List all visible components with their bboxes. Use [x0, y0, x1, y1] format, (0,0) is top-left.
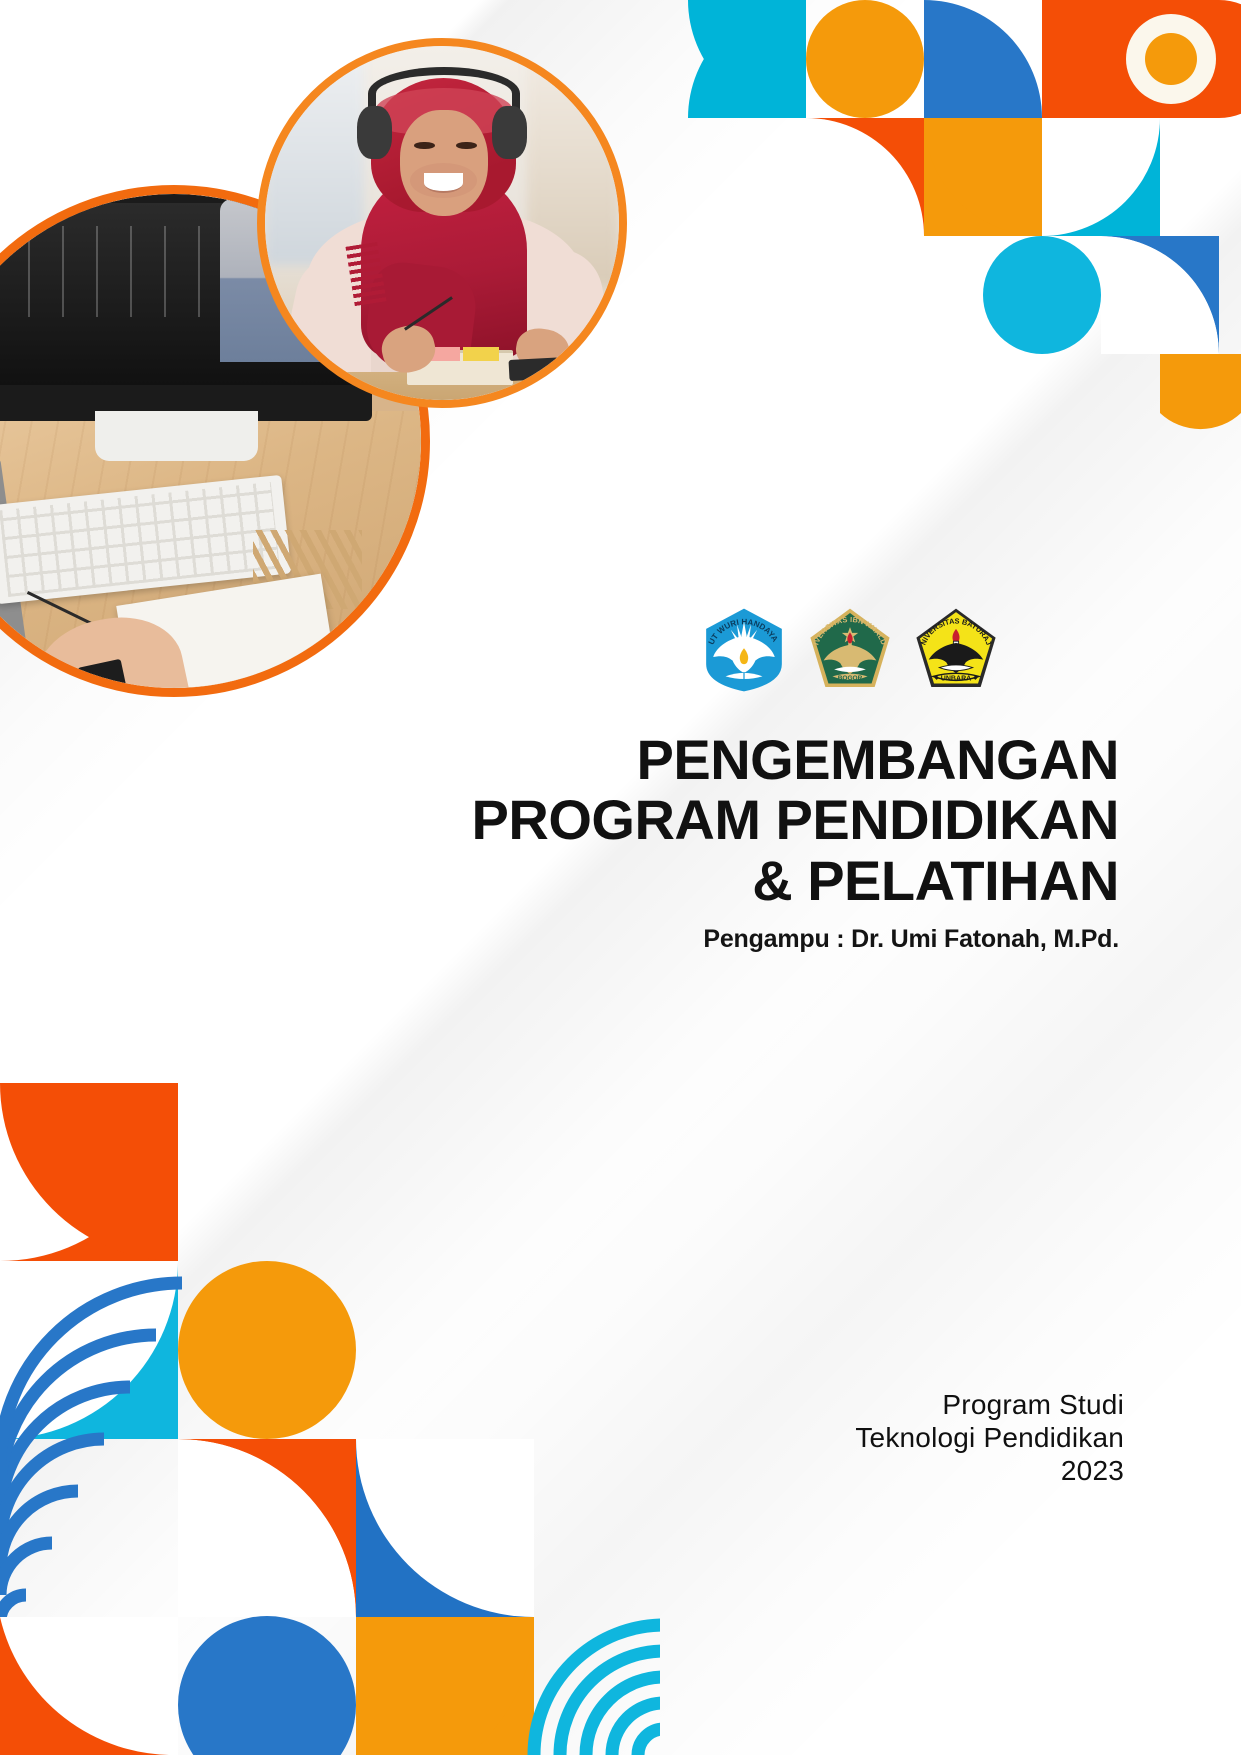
shape-orange-circle [806, 0, 924, 118]
footer-year: 2023 [855, 1454, 1124, 1487]
program-footer: Program Studi Teknologi Pendidikan 2023 [855, 1388, 1124, 1487]
shape-blue-circle-bottom [178, 1616, 356, 1755]
shape-cyan-concentric-arcs [534, 1625, 660, 1755]
shape-cyan-circle [983, 236, 1101, 354]
title-line-1: PENGEMBANGAN [359, 730, 1119, 790]
tut-wuri-handayani-logo: TUT WURI HANDAYANI [700, 606, 788, 694]
institution-logos: TUT WURI HANDAYANI UNIVERSITAS IBN KHALD… [700, 600, 1000, 700]
footer-line-1: Program Studi [855, 1388, 1124, 1421]
shape-orange-big-circle [178, 1261, 356, 1439]
shape-orange-halfcircle [1160, 354, 1241, 429]
universitas-ibn-khaldun-logo: UNIVERSITAS IBN KHALDUN BOGOR [806, 606, 894, 694]
student-headphones-photo [257, 38, 627, 408]
shape-orange-dot [1145, 33, 1197, 85]
logo-2-text-bottom: BOGOR [838, 675, 863, 682]
page-title: PENGEMBANGAN PROGRAM PENDIDIKAN & PELATI… [359, 730, 1119, 911]
bottom-left-geometric-pattern [0, 965, 660, 1755]
title-line-2: PROGRAM PENDIDIKAN [359, 790, 1119, 850]
title-line-3: & PELATIHAN [359, 851, 1119, 911]
top-right-geometric-pattern [679, 0, 1241, 450]
footer-line-2: Teknologi Pendidikan [855, 1421, 1124, 1454]
universitas-baturaja-logo: UNIVERSITAS BATURAJA UNBARA [912, 606, 1000, 694]
lecturer-subtitle: Pengampu : Dr. Umi Fatonah, M.Pd. [359, 925, 1119, 954]
logo-3-text-bottom: UNBARA [941, 675, 971, 682]
cover-page: TUT WURI HANDAYANI UNIVERSITAS IBN KHALD… [0, 0, 1241, 1755]
